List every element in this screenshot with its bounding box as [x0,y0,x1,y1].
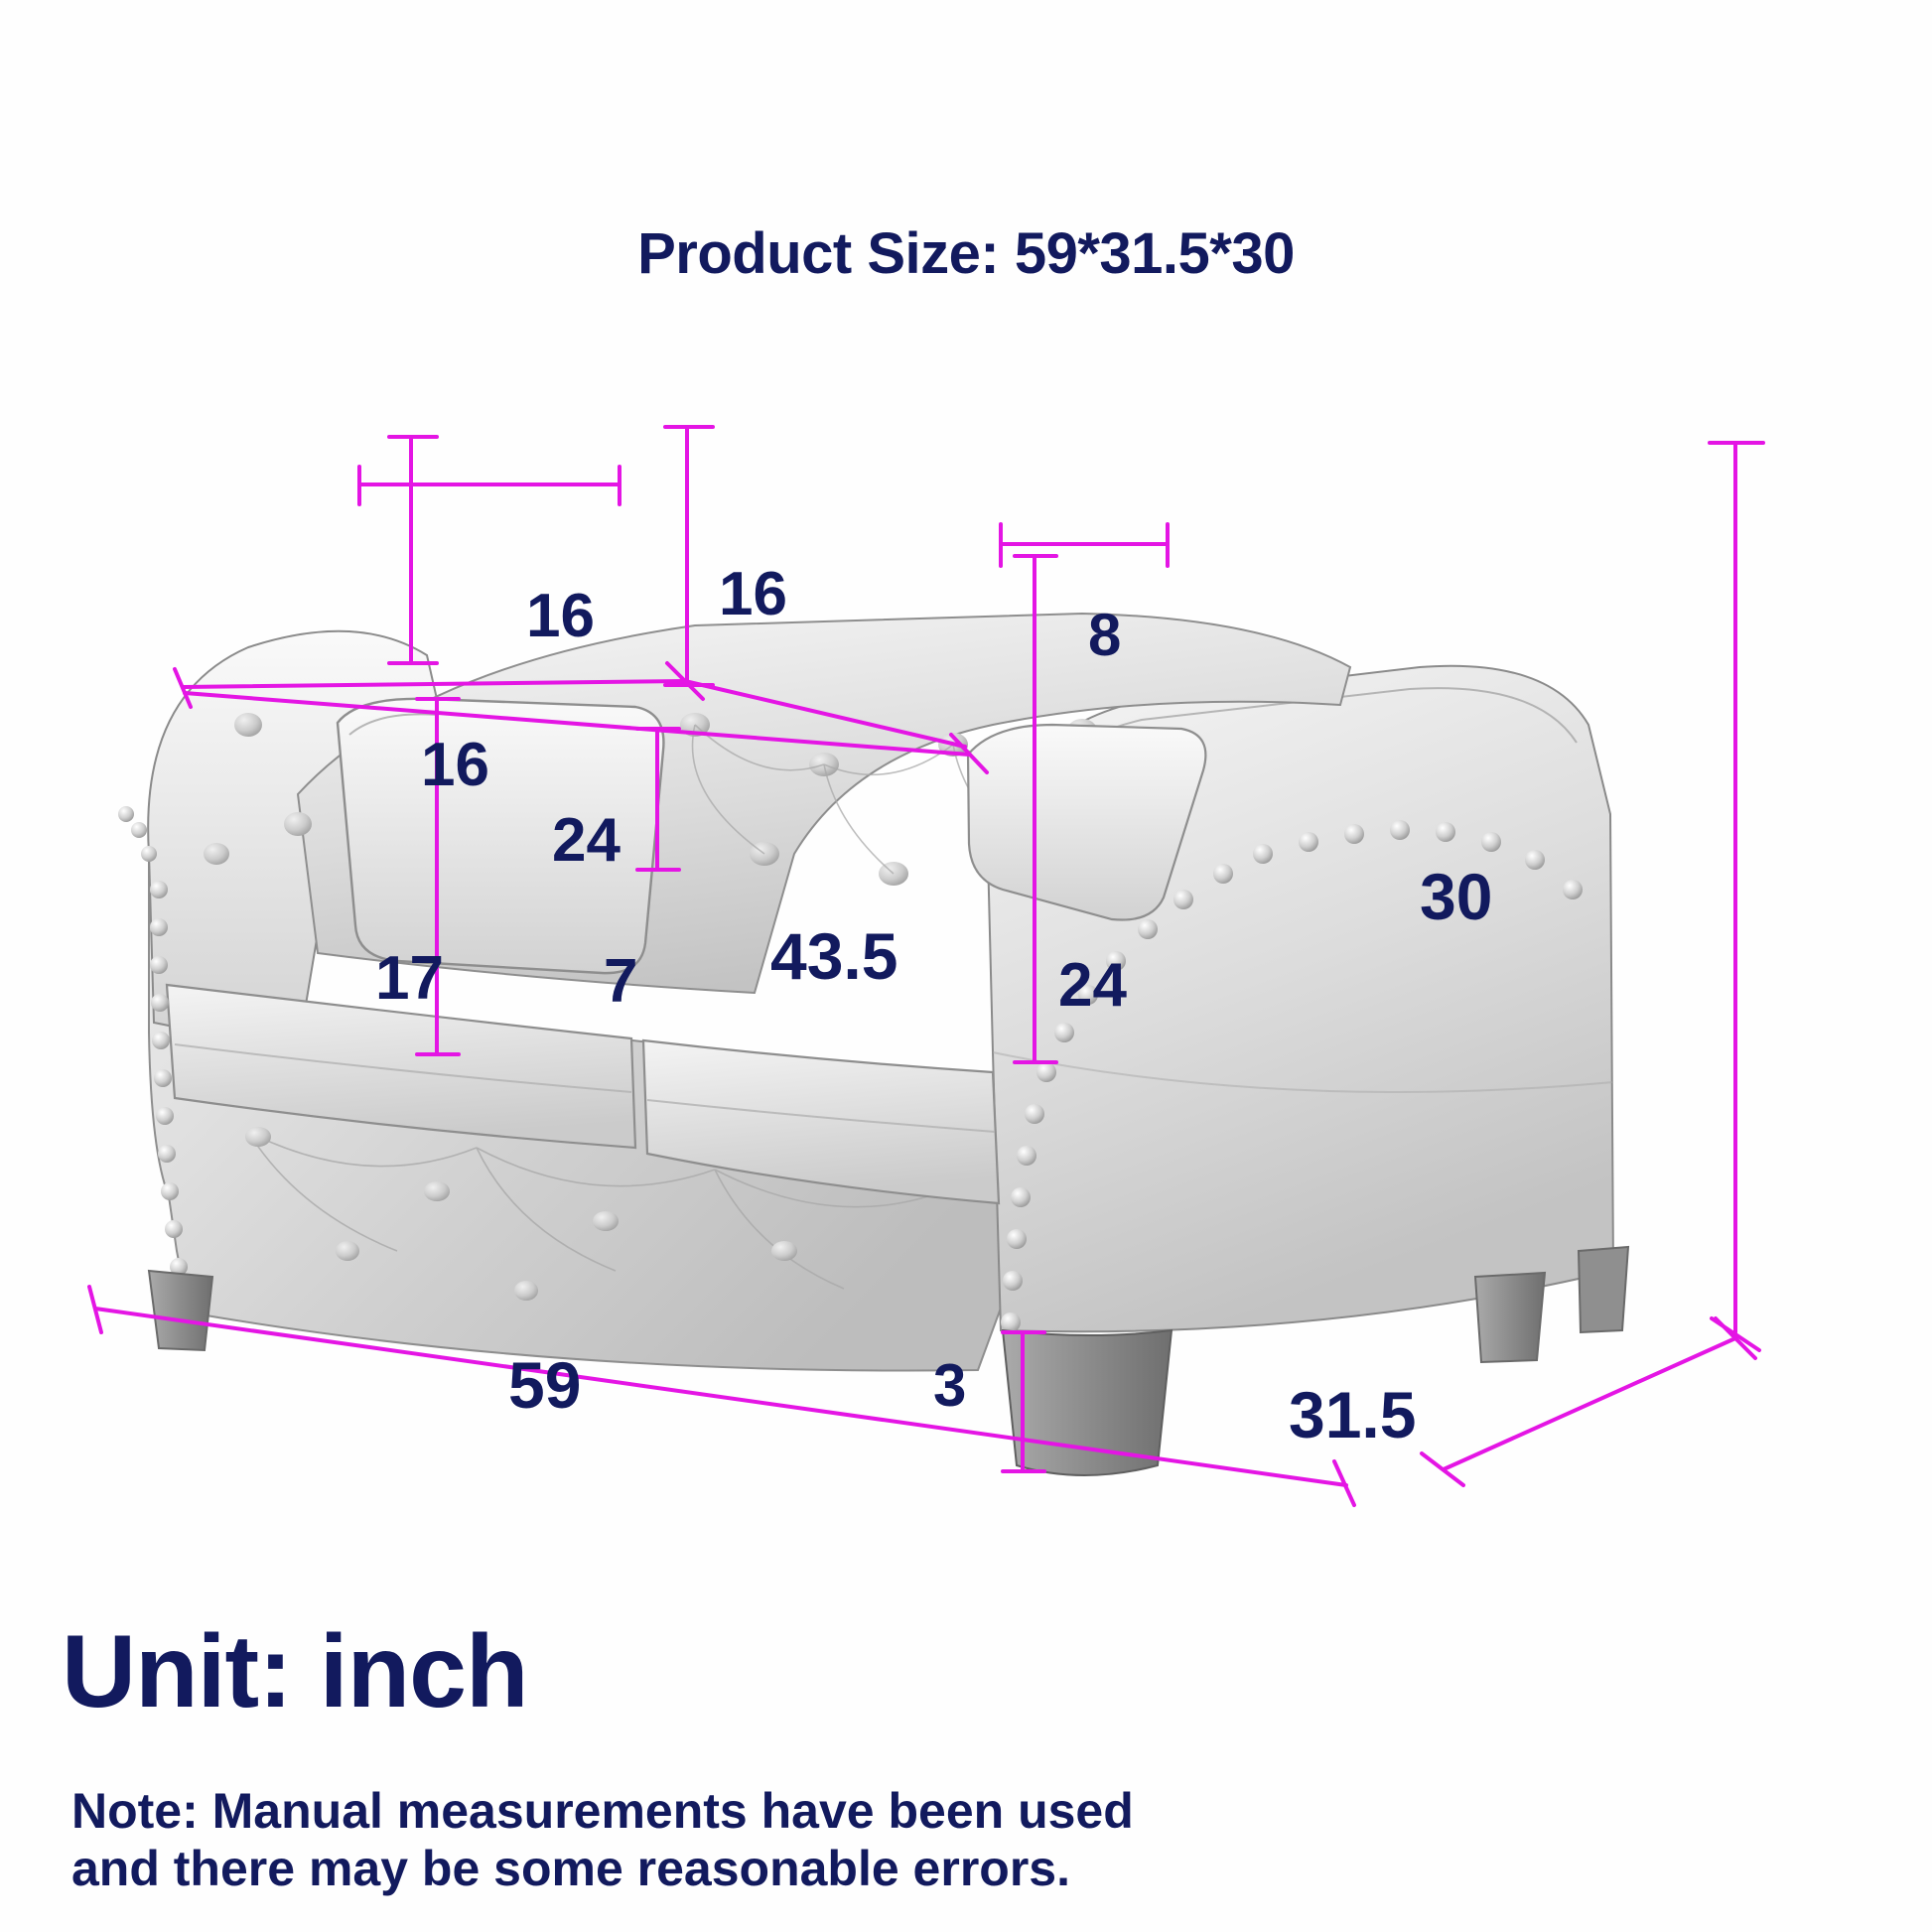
sofa-svg [0,298,1932,1539]
dimension-label-pillow-width: 16 [526,586,595,647]
dimension-label-arm-height: 24 [1058,955,1127,1017]
dimension-label-leg-height: 3 [933,1356,966,1416]
dimline-arm-top-width [1001,524,1168,566]
dimension-label-seat-height: 17 [375,948,444,1010]
dimline-pillow-height [389,437,437,663]
dimension-label-seat-width: 43.5 [770,923,897,989]
page-title: Product Size: 59*31.5*30 [0,220,1932,287]
unit-label: Unit: inch [62,1613,527,1731]
sofa-illustration [0,298,1932,1489]
dimension-label-overall-width: 59 [508,1352,581,1418]
dimension-label-backrest-height: 16 [719,564,787,625]
dimline-pillow-width [359,467,620,504]
dimension-label-overall-depth: 31.5 [1289,1382,1416,1448]
dimension-label-arm-top-width: 8 [1088,606,1121,665]
dimline-overall-depth [1422,1318,1755,1485]
dimension-label-pillow-height: 16 [421,735,489,796]
measurement-note: Note: Manual measurements have been used… [71,1782,1134,1897]
product-dimension-diagram: Product Size: 59*31.5*30 [0,0,1932,1932]
dimension-label-overall-height: 30 [1420,864,1492,929]
dimline-overall-height [1710,443,1763,1350]
dimension-label-seat-depth: 24 [552,810,621,872]
dimension-label-cushion-thickness: 7 [604,951,637,1013]
